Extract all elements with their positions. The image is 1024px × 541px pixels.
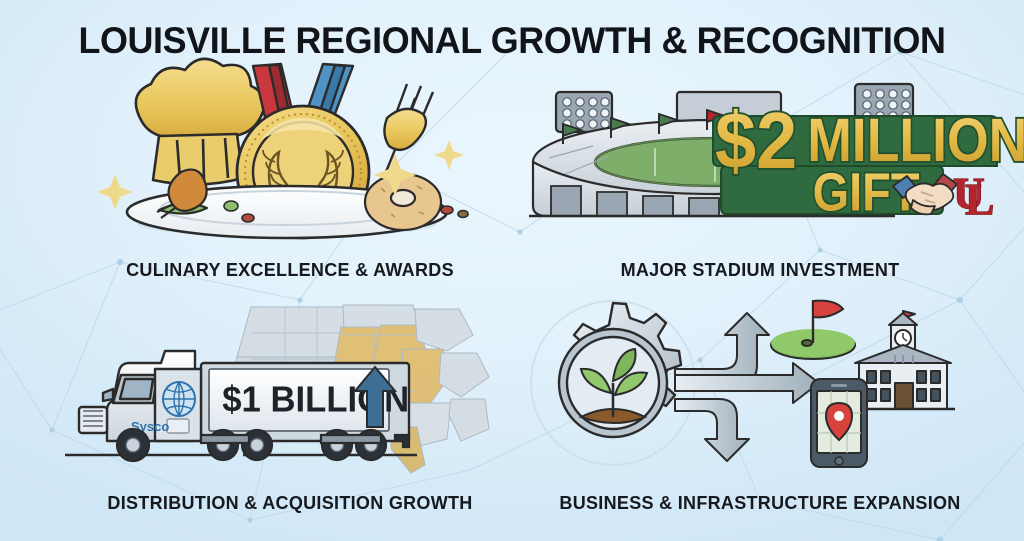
golf-flag-icon bbox=[771, 301, 855, 359]
caption-stadium: MAJOR STADIUM INVESTMENT bbox=[525, 260, 995, 281]
quadrant-distribution: $1 BILLION bbox=[55, 295, 525, 520]
page-title: LOUISVILLE REGIONAL GROWTH & RECOGNITION bbox=[15, 20, 1008, 62]
arrow-right-icon-up bbox=[675, 313, 769, 383]
arrow-right-icon-down bbox=[675, 399, 749, 461]
expansion-illustration bbox=[525, 295, 995, 480]
caption-culinary: CULINARY EXCELLENCE & AWARDS bbox=[55, 260, 525, 281]
culinary-illustration bbox=[55, 62, 525, 247]
distribution-illustration: $1 BILLION bbox=[55, 295, 525, 480]
stadium-illustration: $2 MILLION GIFT U L bbox=[525, 62, 995, 247]
caption-expansion: BUSINESS & INFRASTRUCTURE EXPANSION bbox=[525, 493, 995, 514]
donut-icon bbox=[365, 174, 441, 230]
quadrant-culinary: CULINARY EXCELLENCE & AWARDS bbox=[55, 62, 525, 287]
ul-logo-icon: U L bbox=[953, 169, 994, 224]
caption-distribution: DISTRIBUTION & ACQUISITION GROWTH bbox=[55, 493, 525, 514]
infographic-canvas: LOUISVILLE REGIONAL GROWTH & RECOGNITION bbox=[0, 0, 1024, 541]
amount-text: $2 bbox=[715, 96, 797, 185]
smartphone-map-pin-icon bbox=[811, 379, 867, 467]
svg-text:L: L bbox=[965, 175, 994, 224]
quadrant-expansion: BUSINESS & INFRASTRUCTURE EXPANSION bbox=[525, 295, 995, 520]
quadrant-stadium: $2 MILLION GIFT U L MAJO bbox=[525, 62, 995, 287]
